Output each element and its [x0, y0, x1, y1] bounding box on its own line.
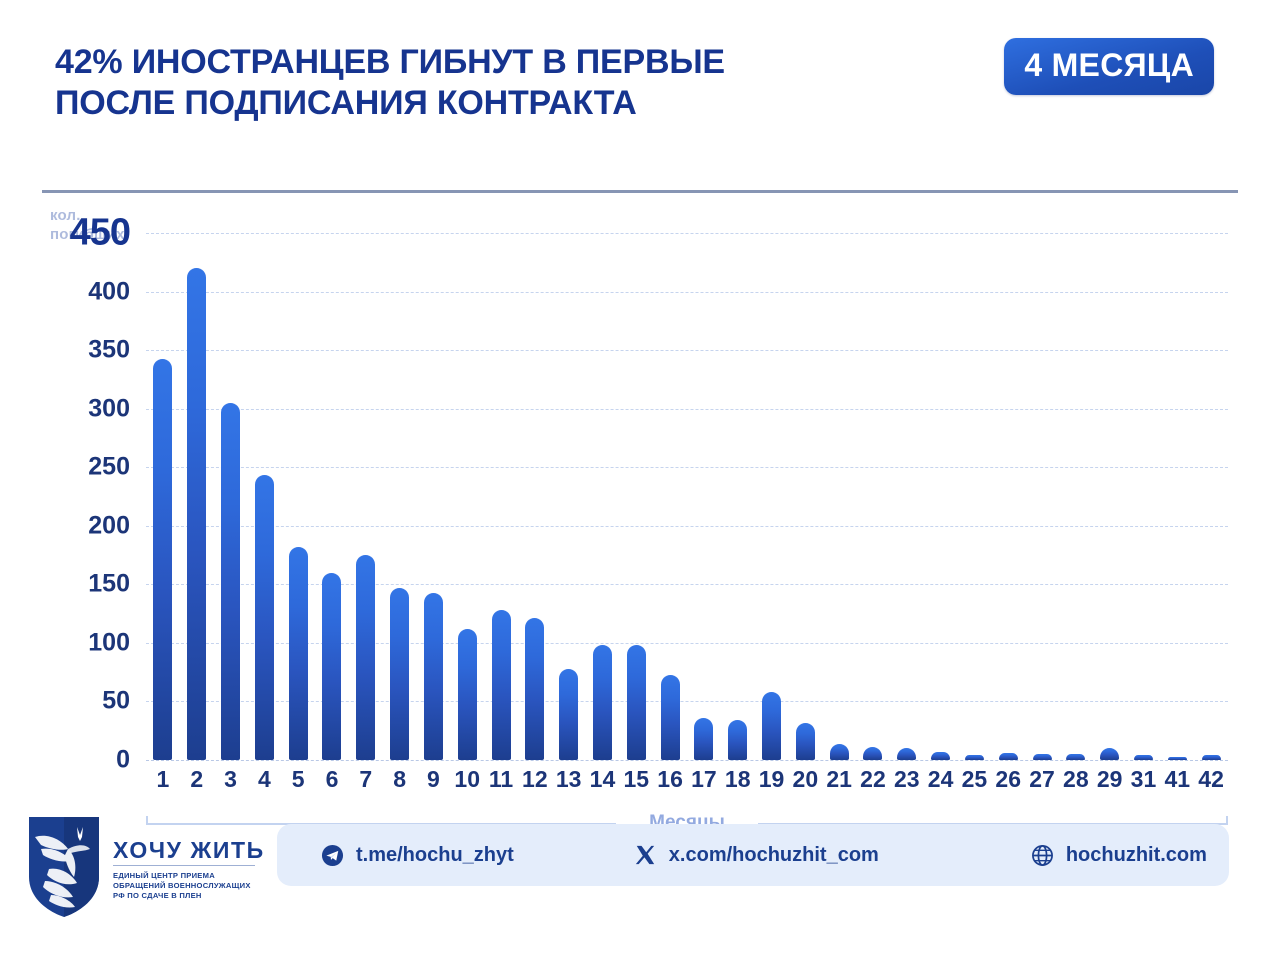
x-tick-15: 15 — [619, 766, 653, 793]
x-link[interactable]: x.com/hochuzhit_com — [634, 844, 879, 867]
x-tick-17: 17 — [687, 766, 721, 793]
x-tick-22: 22 — [856, 766, 890, 793]
x-tick-42: 42 — [1194, 766, 1228, 793]
title-line-2: ПОСЛЕ ПОДПИСАНИЯ КОНТРАКТА — [55, 83, 955, 124]
bar-slot — [180, 233, 214, 760]
contact-bar: t.me/hochu_zhyt x.com/hochuzhit_com — [277, 824, 1229, 886]
bar-6[interactable] — [322, 573, 341, 760]
x-tick-10: 10 — [450, 766, 484, 793]
x-twitter-icon — [634, 844, 657, 867]
x-tick-26: 26 — [991, 766, 1025, 793]
y-tick-50: 50 — [102, 687, 130, 716]
bar-29[interactable] — [1100, 748, 1119, 760]
shield-dove-icon — [27, 815, 101, 919]
x-tick-28: 28 — [1059, 766, 1093, 793]
bar-2[interactable] — [187, 268, 206, 760]
x-tick-24: 24 — [924, 766, 958, 793]
bar-slot — [856, 233, 890, 760]
bar-25[interactable] — [965, 755, 984, 760]
bar-slot — [450, 233, 484, 760]
bar-27[interactable] — [1033, 754, 1052, 760]
y-axis-ticks: 450400350300250200150100500 — [42, 200, 138, 760]
bar-slot — [1160, 233, 1194, 760]
y-tick-150: 150 — [88, 570, 130, 599]
x-axis-ticks: 1234567891011121314151617181920212223242… — [146, 766, 1228, 793]
bar-26[interactable] — [999, 753, 1018, 760]
y-tick-450: 450 — [70, 212, 130, 255]
x-tick-9: 9 — [417, 766, 451, 793]
x-tick-14: 14 — [586, 766, 620, 793]
x-tick-19: 19 — [755, 766, 789, 793]
bar-23[interactable] — [897, 748, 916, 760]
x-tick-3: 3 — [214, 766, 248, 793]
x-tick-18: 18 — [721, 766, 755, 793]
header: 42% ИНОСТРАНЦЕВ ГИБНУТ В ПЕРВЫЕ ПОСЛЕ ПО… — [55, 42, 1240, 124]
x-tick-12: 12 — [518, 766, 552, 793]
bar-3[interactable] — [221, 403, 240, 760]
bar-16[interactable] — [661, 675, 680, 760]
gridline-0 — [146, 760, 1228, 761]
bar-slot — [991, 233, 1025, 760]
bar-24[interactable] — [931, 752, 950, 760]
website-link[interactable]: hochuzhit.com — [1031, 844, 1207, 867]
bar-slot — [383, 233, 417, 760]
x-tick-7: 7 — [349, 766, 383, 793]
bar-17[interactable] — [694, 718, 713, 760]
bar-chart: кол. погибших 45040035030025020015010050… — [42, 200, 1238, 815]
y-tick-350: 350 — [88, 336, 130, 365]
y-tick-250: 250 — [88, 453, 130, 482]
bar-slot — [349, 233, 383, 760]
bar-slot — [924, 233, 958, 760]
bar-slot — [315, 233, 349, 760]
x-tick-21: 21 — [822, 766, 856, 793]
bar-slot — [653, 233, 687, 760]
bar-slot — [281, 233, 315, 760]
bar-slot — [1127, 233, 1161, 760]
bar-slot — [958, 233, 992, 760]
x-tick-41: 41 — [1160, 766, 1194, 793]
bar-22[interactable] — [863, 747, 882, 760]
bar-7[interactable] — [356, 555, 375, 760]
x-tick-27: 27 — [1025, 766, 1059, 793]
bar-slot — [247, 233, 281, 760]
bar-slot — [417, 233, 451, 760]
header-divider — [42, 190, 1238, 193]
bar-19[interactable] — [762, 692, 781, 760]
y-tick-400: 400 — [88, 277, 130, 306]
bar-slot — [484, 233, 518, 760]
footer: ХОЧУ ЖИТЬ ЕДИНЫЙ ЦЕНТР ПРИЕМА ОБРАЩЕНИЙ … — [0, 810, 1280, 960]
bar-41[interactable] — [1168, 757, 1187, 761]
x-tick-23: 23 — [890, 766, 924, 793]
bar-8[interactable] — [390, 588, 409, 760]
bar-13[interactable] — [559, 669, 578, 760]
brand-logo: ХОЧУ ЖИТЬ ЕДИНЫЙ ЦЕНТР ПРИЕМА ОБРАЩЕНИЙ … — [27, 815, 259, 923]
x-link-label: x.com/hochuzhit_com — [669, 844, 879, 867]
bar-slot — [788, 233, 822, 760]
x-tick-25: 25 — [958, 766, 992, 793]
y-tick-0: 0 — [116, 746, 130, 775]
bar-slot — [1194, 233, 1228, 760]
infographic-page: 42% ИНОСТРАНЦЕВ ГИБНУТ В ПЕРВЫЕ ПОСЛЕ ПО… — [0, 0, 1280, 960]
x-tick-4: 4 — [247, 766, 281, 793]
bar-slot — [721, 233, 755, 760]
bar-slot — [214, 233, 248, 760]
x-tick-16: 16 — [653, 766, 687, 793]
logo-subtitle-line3: РФ ПО СДАЧЕ В ПЛЕН — [113, 891, 202, 900]
logo-subtitle: ЕДИНЫЙ ЦЕНТР ПРИЕМА ОБРАЩЕНИЙ ВОЕННОСЛУЖ… — [113, 871, 263, 901]
plot-canvas — [146, 200, 1228, 760]
bar-slot — [146, 233, 180, 760]
globe-icon — [1031, 844, 1054, 867]
bar-slot — [822, 233, 856, 760]
website-link-label: hochuzhit.com — [1066, 844, 1207, 867]
bar-18[interactable] — [728, 720, 747, 760]
bar-12[interactable] — [525, 618, 544, 760]
bar-28[interactable] — [1066, 754, 1085, 760]
x-tick-6: 6 — [315, 766, 349, 793]
x-tick-5: 5 — [281, 766, 315, 793]
bar-21[interactable] — [830, 744, 849, 760]
bar-14[interactable] — [593, 645, 612, 760]
bar-slot — [552, 233, 586, 760]
x-tick-20: 20 — [788, 766, 822, 793]
x-tick-13: 13 — [552, 766, 586, 793]
x-tick-31: 31 — [1127, 766, 1161, 793]
bar-1[interactable] — [153, 359, 172, 760]
bar-10[interactable] — [458, 629, 477, 760]
bar-5[interactable] — [289, 547, 308, 760]
bar-slot — [1093, 233, 1127, 760]
x-tick-1: 1 — [146, 766, 180, 793]
bar-20[interactable] — [796, 723, 815, 760]
x-tick-29: 29 — [1093, 766, 1127, 793]
bar-slot — [687, 233, 721, 760]
telegram-icon — [321, 844, 344, 867]
bar-slot — [1025, 233, 1059, 760]
bar-slot — [518, 233, 552, 760]
title-line-1: 42% ИНОСТРАНЦЕВ ГИБНУТ В ПЕРВЫЕ — [55, 43, 725, 81]
plot-area: 450400350300250200150100500 — [42, 200, 1238, 760]
bar-slot — [890, 233, 924, 760]
y-tick-300: 300 — [88, 394, 130, 423]
x-tick-11: 11 — [484, 766, 518, 793]
telegram-link-label: t.me/hochu_zhyt — [356, 844, 514, 867]
x-tick-2: 2 — [180, 766, 214, 793]
page-title: 42% ИНОСТРАНЦЕВ ГИБНУТ В ПЕРВЫЕ ПОСЛЕ ПО… — [55, 42, 955, 124]
bar-31[interactable] — [1134, 755, 1153, 760]
bar-9[interactable] — [424, 593, 443, 760]
y-tick-200: 200 — [88, 511, 130, 540]
logo-wordmark: ХОЧУ ЖИТЬ — [113, 837, 265, 864]
telegram-link[interactable]: t.me/hochu_zhyt — [321, 844, 514, 867]
bar-15[interactable] — [627, 645, 646, 760]
logo-subtitle-line1: ЕДИНЫЙ ЦЕНТР ПРИЕМА — [113, 871, 215, 880]
bar-series — [146, 233, 1228, 760]
highlight-badge: 4 МЕСЯЦА — [1004, 38, 1214, 95]
bar-slot — [586, 233, 620, 760]
bar-slot — [755, 233, 789, 760]
bar-11[interactable] — [492, 610, 511, 760]
bar-4[interactable] — [255, 475, 274, 760]
y-tick-100: 100 — [88, 628, 130, 657]
logo-divider — [113, 865, 255, 866]
bar-slot — [1059, 233, 1093, 760]
x-tick-8: 8 — [383, 766, 417, 793]
bar-slot — [619, 233, 653, 760]
bar-42[interactable] — [1202, 755, 1221, 760]
logo-subtitle-line2: ОБРАЩЕНИЙ ВОЕННОСЛУЖАЩИХ — [113, 881, 251, 890]
